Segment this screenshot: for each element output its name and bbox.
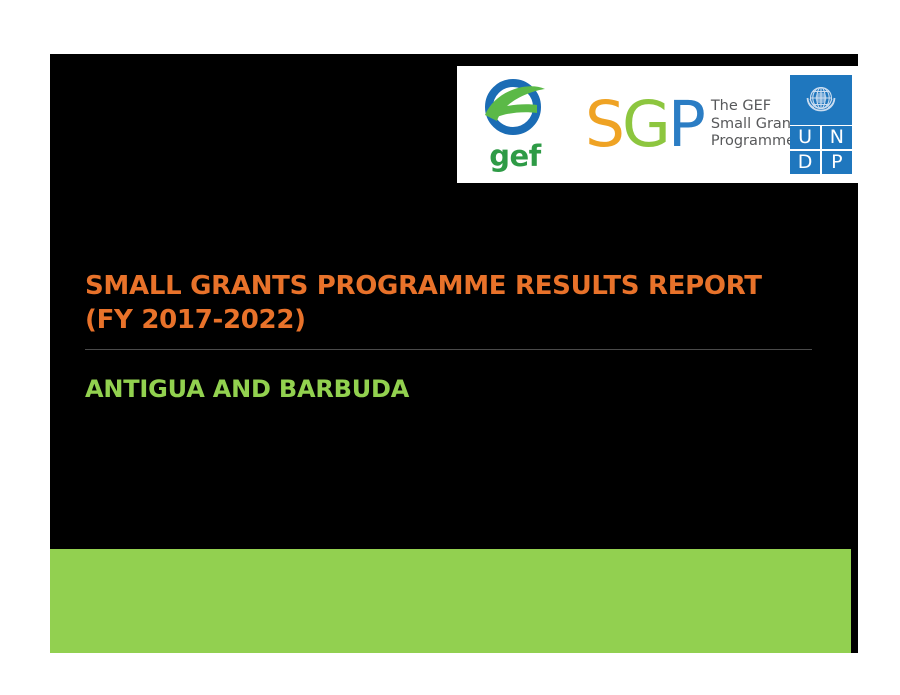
page-subtitle: ANTIGUA AND BARBUDA bbox=[85, 350, 812, 404]
un-emblem-icon bbox=[800, 79, 842, 121]
undp-cell-n: N bbox=[822, 126, 852, 149]
sgp-letter-g: G bbox=[622, 88, 668, 161]
gef-wordmark: gef bbox=[467, 142, 563, 171]
undp-cell-d: D bbox=[790, 151, 820, 174]
undp-cell-p: P bbox=[822, 151, 852, 174]
undp-logo: U N D P bbox=[790, 75, 852, 174]
slide-canvas: gef SGP The GEF Small Grants Programme bbox=[0, 0, 900, 695]
sgp-letter-p: P bbox=[668, 88, 703, 161]
undp-cell-u: U bbox=[790, 126, 820, 149]
un-globe-wreath-emblem bbox=[790, 75, 852, 125]
title-block: SMALL GRANTS PROGRAMME RESULTS REPORT (F… bbox=[85, 269, 812, 403]
logo-strip: gef SGP The GEF Small Grants Programme bbox=[457, 66, 858, 183]
sgp-logo: SGP The GEF Small Grants Programme bbox=[585, 93, 804, 156]
slide-body: gef SGP The GEF Small Grants Programme bbox=[50, 54, 858, 653]
page-title: SMALL GRANTS PROGRAMME RESULTS REPORT (F… bbox=[85, 269, 812, 338]
undp-letter-grid: U N D P bbox=[790, 126, 852, 174]
gef-globe-icon bbox=[481, 75, 549, 137]
sgp-wordmark: SGP bbox=[585, 93, 703, 156]
accent-band bbox=[50, 549, 851, 653]
sgp-letter-s: S bbox=[585, 88, 622, 161]
gef-logo: gef bbox=[467, 73, 563, 177]
